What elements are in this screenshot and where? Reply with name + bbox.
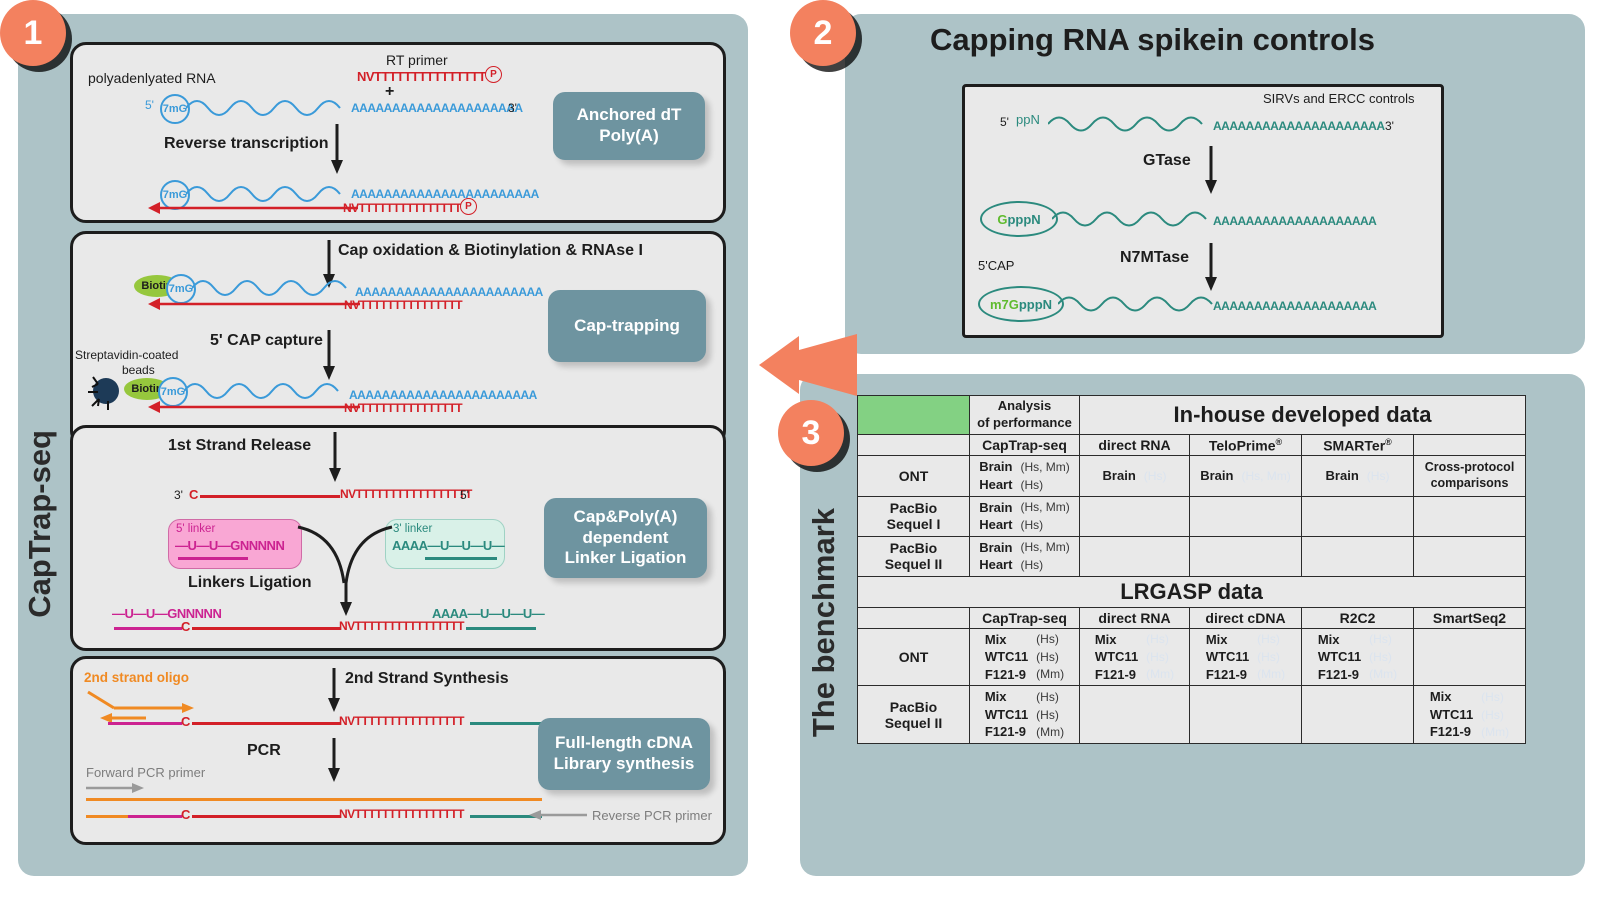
- streptavidin-beads-label-1: Streptavidin-coated: [75, 348, 178, 362]
- second-strand-primer: NVTTTTTTTTTTTTTTTT: [339, 714, 464, 728]
- polya-tail-1: AAAAAAAAAAAAAAAAAAAAA: [351, 101, 523, 115]
- panel2-title: Capping RNA spikein controls: [930, 22, 1375, 58]
- header-corner-cell: [858, 607, 970, 628]
- spikein-polya-1: AAAAAAAAAAAAAAAAAAAAA: [1213, 119, 1385, 133]
- badge-line: dependent: [583, 528, 669, 549]
- cap-pppn-letters: pppN: [1007, 212, 1040, 227]
- cap-oxidation-label: Cap oxidation & Biotinylation & RNAse I: [338, 242, 643, 260]
- n7mtase-label: N7MTase: [1120, 249, 1189, 267]
- table-cell: [1080, 686, 1190, 744]
- polyadenylated-rna-label: polyadenlyated RNA: [88, 70, 216, 86]
- five-prime-label-1: 5': [145, 98, 154, 112]
- first-strand-release-label: 1st Strand Release: [168, 437, 311, 455]
- panel1-side-label: CapTrap-seq: [22, 430, 58, 618]
- table-cell: Brain(Hs): [1302, 456, 1414, 496]
- table-cell: [1414, 628, 1526, 686]
- cap-g-letter: G: [997, 212, 1007, 227]
- cdna-primer-2: NVTTTTTTTTTTTTTTT: [344, 298, 462, 312]
- c-base-2: C: [181, 619, 190, 634]
- c-base-1: C: [189, 487, 198, 502]
- sirv-ercc-label: SIRVs and ERCC controls: [1263, 91, 1415, 106]
- ligated-linker5: —U—U—GNNNNN: [112, 606, 221, 621]
- second-strand-synthesis-label: 2nd Strand Synthesis: [345, 670, 509, 688]
- row-label-pacbio-sequel-i: PacBioSequel I: [858, 496, 970, 536]
- second-strand-red: [192, 722, 340, 725]
- second-strand-magenta: [108, 722, 182, 725]
- cdna-primer-4: NVTTTTTTTTTTTTTTTTT: [340, 487, 472, 501]
- cap-capture-label: 5' CAP capture: [210, 332, 323, 350]
- linkers-ligation-label: Linkers Ligation: [188, 574, 312, 592]
- banner-lrgasp-data: LRGASP data: [858, 576, 1526, 607]
- ligated-teal-line: [466, 627, 536, 630]
- reverse-transcription-label: Reverse transcription: [164, 135, 329, 153]
- three-prime-label-3: 3': [1385, 119, 1394, 133]
- table-cell: [1302, 686, 1414, 744]
- linker-5prime-sequence: —U—U—GNNNNN: [175, 538, 284, 553]
- column-header-r2c2: R2C2: [1302, 607, 1414, 628]
- cdna-arrow-2: [148, 296, 360, 312]
- header-corner-cell: [858, 434, 970, 456]
- table-cell: Brain(Hs, Mm)Heart(Hs): [970, 456, 1080, 496]
- second-strand-teal: [470, 722, 542, 725]
- table-cell: [1080, 496, 1190, 536]
- forward-primer-arrow: [86, 782, 146, 794]
- polya-tail-2: AAAAAAAAAAAAAAAAAAAAAAA: [351, 187, 539, 201]
- badge-line: Cap&Poly(A): [574, 507, 678, 528]
- badge-line: Anchored dT: [577, 105, 682, 126]
- cdna-line-1: [200, 495, 340, 498]
- linker-3prime-title: 3' linker: [393, 523, 432, 535]
- pcr-bottom-primer: NVTTTTTTTTTTTTTTTT: [339, 807, 464, 821]
- process-arrow-9: [1202, 243, 1220, 293]
- table-cell: Brain(Hs, Mm)Heart(Hs): [970, 536, 1080, 576]
- badge-cap-trapping: Cap-trapping: [548, 290, 706, 362]
- forward-pcr-primer-label: Forward PCR primer: [86, 765, 205, 780]
- column-header-captrap-seq: CapTrap-seq: [970, 434, 1080, 456]
- pcr-top-strand: [86, 798, 542, 801]
- column-header-captrap-seq: CapTrap-seq: [970, 607, 1080, 628]
- rt-primer-label: RT primer: [386, 52, 448, 68]
- reverse-pcr-primer-label: Reverse PCR primer: [592, 808, 712, 823]
- process-arrow-6: [325, 668, 343, 714]
- panel-number-badge-3: 3: [778, 400, 844, 466]
- cdna-primer-1: NVTTTTTTTTTTTTTTT: [343, 201, 461, 215]
- linker-5prime-underline: [178, 557, 248, 560]
- table-cell: Mix(Hs)WTC11(Hs)F121-9(Mm): [1080, 628, 1190, 686]
- pcr-bottom-red: [192, 815, 340, 818]
- rna-wave-1: [186, 92, 361, 122]
- linker-3prime-sequence: AAAA—U—U—U—: [392, 538, 504, 553]
- ligated-primer: NVTTTTTTTTTTTTTTTT: [339, 619, 464, 633]
- banner-in-house-developed-data: In-house developed data: [1080, 396, 1526, 435]
- table-row: ONTBrain(Hs, Mm)Heart(Hs)Brain(Hs)Brain(…: [858, 456, 1526, 496]
- benchmark-table-body: Analysisof performanceIn-house developed…: [858, 396, 1526, 744]
- connector-arrow-icon: [757, 330, 857, 400]
- row-label-ont: ONT: [858, 628, 970, 686]
- cdna-primer-3: NVTTTTTTTTTTTTTTT: [344, 401, 462, 415]
- three-prime-label-2: 3': [174, 488, 183, 502]
- badge-anchored-dt: Anchored dT Poly(A): [553, 92, 705, 160]
- figure-canvas: 1 CapTrap-seq polyadenlyated RNA RT prim…: [0, 0, 1600, 900]
- five-prime-label-3: 5': [1000, 115, 1009, 129]
- table-cell: [1190, 496, 1302, 536]
- banner-spacer-cell: [858, 396, 970, 435]
- linker-3prime-underline: [425, 557, 497, 560]
- table-row: ONTMix(Hs)WTC11(Hs)F121-9(Mm)Mix(Hs)WTC1…: [858, 628, 1526, 686]
- column-header-empty: [1414, 434, 1526, 456]
- polya-tail-3: AAAAAAAAAAAAAAAAAAAAAAA: [355, 285, 543, 299]
- process-arrow-5: [337, 580, 355, 618]
- process-arrow-1: [328, 124, 346, 176]
- table-row: PacBioSequel IBrain(Hs, Mm)Heart(Hs): [858, 496, 1526, 536]
- column-header-teloprime: TeloPrime®: [1190, 434, 1302, 456]
- benchmark-table: Analysisof performanceIn-house developed…: [857, 395, 1526, 744]
- pcr-label: PCR: [247, 742, 281, 760]
- table-cell: [1190, 536, 1302, 576]
- pcr-bottom-magenta: [128, 815, 182, 818]
- spikein-polya-3: AAAAAAAAAAAAAAAAAAAA: [1213, 299, 1376, 313]
- cap-pppn-letters-2: pppN: [1019, 297, 1052, 312]
- panel3-side-label: The benchmark: [806, 508, 842, 737]
- c-base-4: C: [181, 807, 190, 822]
- table-row: PacBioSequel IIMix(Hs)WTC11(Hs)F121-9(Mm…: [858, 686, 1526, 744]
- streptavidin-beads-label-2: beads: [122, 363, 155, 377]
- ligated-magenta-line: [114, 627, 182, 630]
- cdna-arrow-1: [148, 200, 358, 216]
- spikein-wave-1: [1048, 110, 1226, 140]
- badge-linker-ligation: Cap&Poly(A) dependent Linker Ligation: [544, 498, 707, 578]
- cdna-arrow-3: [148, 399, 360, 415]
- c-base-3: C: [181, 714, 190, 729]
- table-cell: Cross-protocolcomparisons: [1414, 456, 1526, 496]
- row-label-pacbio-sequel-ii: PacBioSequel II: [858, 536, 970, 576]
- table-cell: [1190, 686, 1302, 744]
- table-cell: Brain(Hs, Mm): [1190, 456, 1302, 496]
- column-header-smartseq2: SmartSeq2: [1414, 607, 1526, 628]
- panel-number-badge-1: 1: [0, 0, 66, 66]
- badge-line: Cap-trapping: [574, 316, 680, 337]
- badge-line: Linker Ligation: [565, 548, 687, 569]
- table-row-banner-lrgasp: LRGASP data: [858, 576, 1526, 607]
- table-cell: [1080, 536, 1190, 576]
- table-row: PacBioSequel IIBrain(Hs, Mm)Heart(Hs): [858, 536, 1526, 576]
- table-cell: Mix(Hs)WTC11(Hs)F121-9(Mm): [1414, 686, 1526, 744]
- plus-symbol: +: [385, 83, 394, 101]
- process-arrow-7: [325, 738, 343, 784]
- rt-primer-sequence: NVTTTTTTTTTTTTTTTTT: [357, 69, 501, 84]
- table-header-row: CapTrap-seqdirect RNAdirect cDNAR2C2Smar…: [858, 607, 1526, 628]
- column-header-smarter: SMARTer®: [1302, 434, 1414, 456]
- panel-number-badge-2: 2: [790, 0, 856, 66]
- process-arrow-4: [326, 432, 344, 484]
- streptavidin-bead-icon: [80, 368, 126, 414]
- three-prime-label-1: 3': [508, 101, 517, 115]
- five-prime-cap-label: 5'CAP: [978, 258, 1014, 273]
- table-cell: [1302, 536, 1414, 576]
- phosphate-icon: P: [485, 66, 502, 83]
- table-cell: Brain(Hs, Mm)Heart(Hs): [970, 496, 1080, 536]
- benchmark-table-wrap: Analysisof performanceIn-house developed…: [857, 395, 1525, 865]
- table-row-banner-inhouse: Analysisof performanceIn-house developed…: [858, 396, 1526, 435]
- cap-m7g-letters: m7G: [990, 297, 1019, 312]
- linker-5prime-title: 5' linker: [176, 523, 215, 535]
- table-cell: [1414, 496, 1526, 536]
- table-header-row: CapTrap-seqdirect RNATeloPrime®SMARTer®: [858, 434, 1526, 456]
- gpppn-cap-icon: GpppN: [980, 201, 1058, 237]
- second-strand-oligo-label: 2nd strand oligo: [84, 670, 189, 685]
- process-arrow-8: [1202, 146, 1220, 196]
- table-cell: Mix(Hs)WTC11(Hs)F121-9(Mm): [970, 628, 1080, 686]
- badge-line: Full-length cDNA: [555, 733, 693, 754]
- five-prime-label-2: 5': [460, 488, 469, 502]
- badge-line: Library synthesis: [554, 754, 695, 775]
- column-header-direct-rna: direct RNA: [1080, 607, 1190, 628]
- table-cell: [1302, 496, 1414, 536]
- ppn-label: ppN: [1016, 112, 1040, 127]
- gtase-label: GTase: [1143, 152, 1191, 170]
- table-cell: Mix(Hs)WTC11(Hs)F121-9(Mm): [1190, 628, 1302, 686]
- pcr-bottom-orange: [86, 815, 128, 818]
- reverse-primer-arrow: [527, 809, 589, 821]
- spikein-wave-3: [1058, 290, 1236, 320]
- analysis-of-performance-header: Analysisof performance: [970, 396, 1080, 435]
- column-header-direct-rna: direct RNA: [1080, 434, 1190, 456]
- table-cell: Brain(Hs): [1080, 456, 1190, 496]
- spikein-polya-2: AAAAAAAAAAAAAAAAAAAA: [1213, 214, 1376, 228]
- row-label-pacbio-sequel-ii: PacBioSequel II: [858, 686, 970, 744]
- table-cell: [1414, 536, 1526, 576]
- row-label-ont: ONT: [858, 456, 970, 496]
- ligated-red-line: [192, 627, 340, 630]
- badge-line: Poly(A): [599, 126, 659, 147]
- m7gpppn-cap-icon: m7GpppN: [978, 286, 1064, 322]
- polya-tail-4: AAAAAAAAAAAAAAAAAAAAAAA: [349, 388, 537, 402]
- badge-library-synthesis: Full-length cDNA Library synthesis: [538, 718, 710, 790]
- table-cell: Mix(Hs)WTC11(Hs)F121-9(Mm): [970, 686, 1080, 744]
- table-cell: Mix(Hs)WTC11(Hs)F121-9(Mm): [1302, 628, 1414, 686]
- column-header-direct-cdna: direct cDNA: [1190, 607, 1302, 628]
- phosphate-icon-2: P: [460, 198, 477, 215]
- spikein-wave-2: [1052, 205, 1230, 235]
